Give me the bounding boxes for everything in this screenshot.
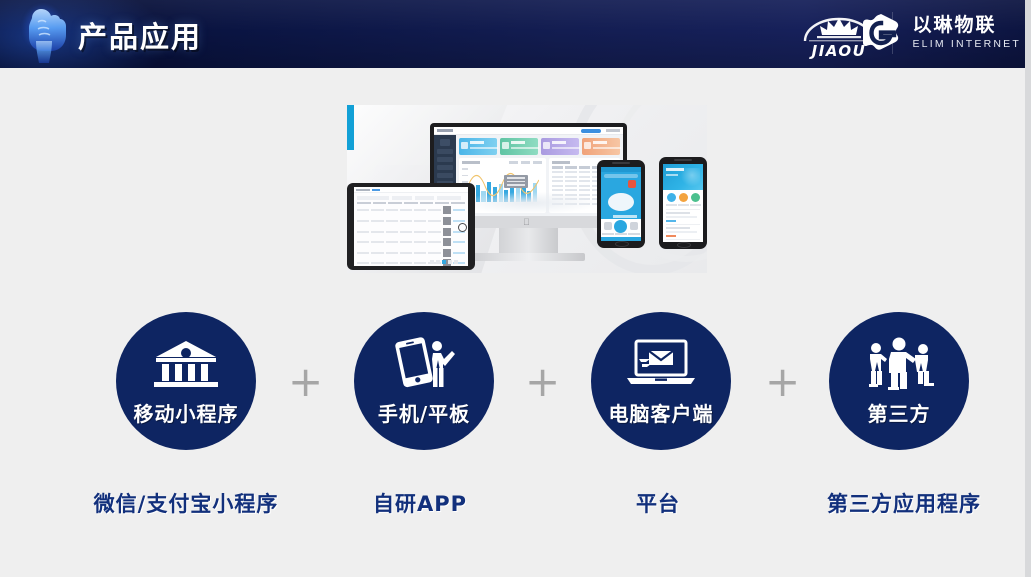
bottom-label-4: 第三方应用程序 [784,488,1024,518]
phone-tabbar[interactable] [601,219,641,237]
tablet-pagination [430,260,458,264]
laptop-with-envelope-icon [591,334,731,392]
g-hexagon-icon [859,12,903,54]
fist-icon [8,0,80,68]
channel-circle-label: 移动小程序 [116,398,256,427]
phone-app-device [597,160,645,248]
dashboard-map [460,192,600,214]
elim-logo-cn: 以琳物联 [912,16,1021,35]
page-title: 产品应用 [78,14,202,56]
bottom-label-1: 微信/支付宝小程序 [66,488,306,518]
channel-circle-third-party[interactable]: 第三方 [829,312,969,450]
tablet-screen [354,187,468,266]
bottom-labels-row: 微信/支付宝小程序 自研APP 平台 第三方应用程序 [0,488,1031,528]
plus-separator-2: + [525,367,559,401]
tablet-device [347,183,475,270]
apple-logo-icon:  [523,218,531,227]
phone-quick-actions[interactable] [663,190,703,209]
bottom-label-2: 自研APP [300,488,540,518]
channel-circle-mobile-tablet[interactable]: 手机/平板 [354,312,494,450]
plus-separator-3: + [765,367,799,401]
channel-circle-label: 电脑客户端 [591,398,731,427]
tablet-home-button [458,223,467,232]
accent-bar [347,105,354,150]
elim-logo: 以琳物联 ELIM INTERNET [859,8,1021,58]
phone-with-person-icon [354,334,494,392]
channel-circle-label: 第三方 [829,398,969,427]
elim-logo-en: ELIM INTERNET [912,39,1021,50]
channel-circles-row: 移动小程序 + 手机/平板 + [0,312,1031,452]
channel-circle-mini-program[interactable]: 移动小程序 [116,312,256,450]
phone-app-screen [601,167,641,241]
slide-root: 产品应用 JIAOU 以琳物联 ELIM INTERNET [0,0,1031,577]
phone-portal-screen [663,164,703,242]
imac-stand [499,228,558,254]
device-mockup:  [347,105,707,273]
dashboard-stat-cards [459,138,620,155]
imac-base [473,253,585,261]
phone-portal-device [659,157,707,249]
bottom-label-3: 平台 [538,488,778,518]
bank-building-icon [116,334,256,392]
channel-circle-desktop-client[interactable]: 电脑客户端 [591,312,731,450]
channel-circle-label: 手机/平板 [354,398,494,427]
plus-separator-1: + [288,367,322,401]
three-people-icon [829,334,969,392]
slide-header: 产品应用 JIAOU 以琳物联 ELIM INTERNET [0,0,1031,68]
